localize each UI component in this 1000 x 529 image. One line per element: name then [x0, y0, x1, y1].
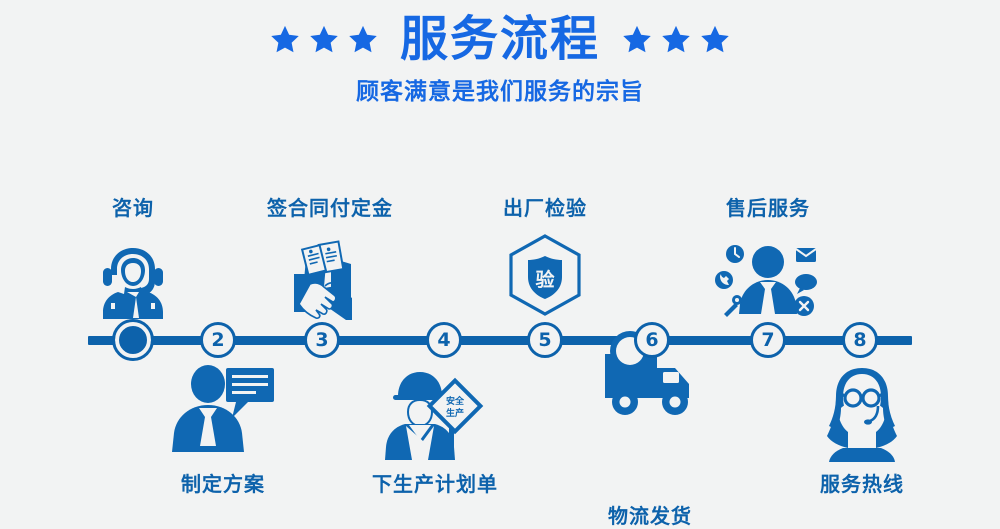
step-4-label: 下生产计划单 — [345, 468, 525, 497]
step-5-label: 出厂检验 — [455, 192, 635, 221]
title-row: 服务流程 — [0, 8, 1000, 70]
stars-left — [270, 24, 378, 54]
timeline-node-6[interactable]: 6 — [634, 322, 670, 358]
star-icon — [348, 24, 378, 54]
female-operator-icon — [772, 362, 952, 464]
step-3-label: 签合同付定金 — [240, 192, 420, 221]
timeline-node-7[interactable]: 7 — [750, 322, 786, 358]
step-2-plan[interactable]: 制定方案 — [133, 362, 313, 497]
step-2-label: 制定方案 — [133, 468, 313, 497]
timeline-node-5[interactable]: 5 — [527, 322, 563, 358]
safety-sign-line1: 安全 — [446, 395, 465, 407]
star-icon — [270, 24, 300, 54]
safety-sign-line2: 生产 — [446, 407, 464, 419]
step-1-consult[interactable]: 咨询 — [43, 192, 223, 322]
timeline-node-4[interactable]: 4 — [426, 322, 462, 358]
star-icon — [622, 24, 652, 54]
step-8-label: 服务热线 — [772, 468, 952, 497]
step-6-label: 物流发货 — [560, 500, 740, 529]
step-5-factory-inspection[interactable]: 出厂检验 验 — [455, 192, 635, 322]
step-4-production-plan[interactable]: 安全 生产 下生产计划单 — [345, 362, 525, 497]
header: 服务流程 顾客满意是我们服务的宗旨 — [0, 0, 1000, 115]
hexagon-shield-inspect-icon: 验 — [455, 227, 635, 322]
star-icon — [700, 24, 730, 54]
person-speech-bubble-icon — [133, 362, 313, 464]
stars-right — [622, 24, 730, 54]
timeline-node-8[interactable]: 8 — [842, 322, 878, 358]
handshake-contract-icon — [240, 227, 420, 322]
step-3-sign-contract[interactable]: 签合同付定金 — [240, 192, 420, 322]
service-process-infographic: 服务流程 顾客满意是我们服务的宗旨 2 3 4 5 6 7 8 咨询 — [0, 0, 1000, 524]
page-subtitle: 顾客满意是我们服务的宗旨 — [0, 72, 1000, 106]
page-title: 服务流程 — [400, 15, 600, 63]
hardhat-worker-sign-icon: 安全 生产 — [345, 362, 525, 464]
step-7-after-sales[interactable]: 售后服务 — [678, 192, 858, 322]
step-6-logistics[interactable]: 物流发货 — [560, 330, 740, 529]
step-8-service-hotline[interactable]: 服务热线 — [772, 362, 952, 497]
after-sales-support-icon — [678, 227, 858, 322]
timeline-node-2[interactable]: 2 — [200, 322, 236, 358]
timeline-node-3[interactable]: 3 — [304, 322, 340, 358]
star-icon — [661, 24, 691, 54]
step-1-label: 咨询 — [43, 192, 223, 221]
shield-char: 验 — [535, 268, 555, 291]
step-7-label: 售后服务 — [678, 192, 858, 221]
headset-agent-icon — [43, 227, 223, 322]
timeline-node-1[interactable] — [115, 322, 151, 358]
star-icon — [309, 24, 339, 54]
